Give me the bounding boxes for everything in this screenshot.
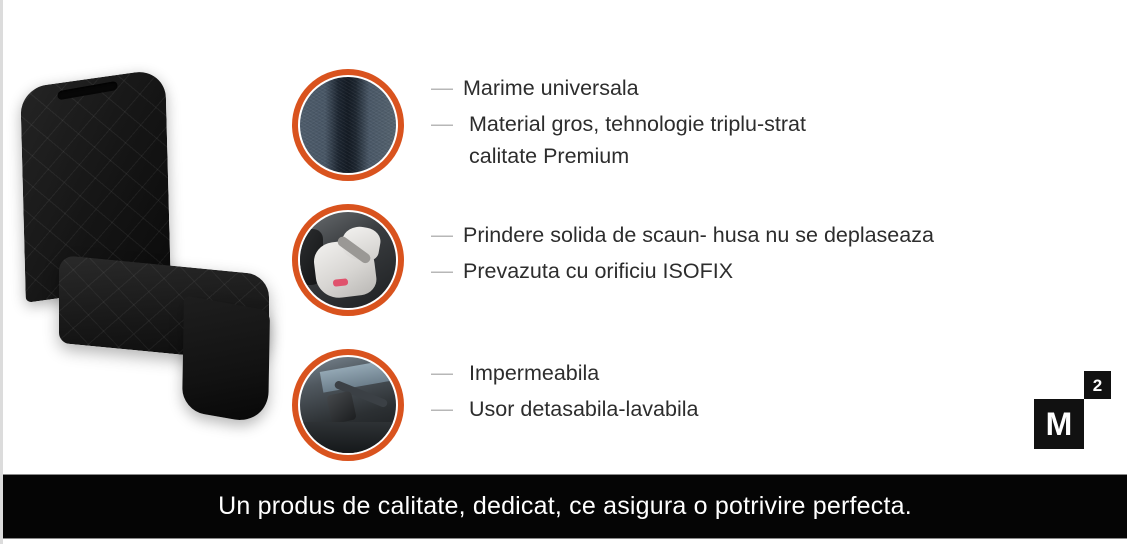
feature-line: — Impermeabila [431,357,698,389]
logo-letter-m: M [1034,399,1084,449]
em-dash-icon: — [431,357,463,389]
feature-text: Impermeabila [463,357,599,389]
feature-line: — Material gros, tehnologie triplu-strat… [431,108,806,172]
feature-text: Usor detasabila-lavabila [463,393,698,425]
seat-belt-buckle-thumbnail [292,349,404,461]
feature-line: — Prevazuta cu orificiu ISOFIX [431,255,934,287]
fabric-closeup-thumbnail [292,69,404,181]
em-dash-icon: — [431,255,463,287]
feature-text: Prevazuta cu orificiu ISOFIX [463,255,733,287]
seat-front-flap [182,296,270,426]
fabric-closeup-image [300,77,396,173]
bottom-banner: Un produs de calitate, dedicat, ce asigu… [3,474,1127,539]
em-dash-icon: — [431,219,463,251]
product-photo [11,60,301,450]
seat-belt-buckle-image [300,357,396,453]
feature-line: — Marime universala [431,72,806,104]
product-feature-slide: — Marime universala — Material gros, teh… [0,0,1127,544]
brand-logo: M 2 [1034,371,1116,449]
child-car-seat-image [300,212,396,308]
feature-line: — Usor detasabila-lavabila [431,393,698,425]
em-dash-icon: — [431,108,463,140]
seat-belt-buckle [326,391,356,424]
feature-text: Material gros, tehnologie triplu-strat c… [463,108,806,172]
feature-group-1: — Marime universala — Material gros, teh… [431,72,806,176]
em-dash-icon: — [431,393,463,425]
child-car-seat-thumbnail [292,204,404,316]
seat-handle-slot [57,81,117,100]
feature-text: Prindere solida de scaun- husa nu se dep… [463,219,934,251]
feature-group-3: — Impermeabila — Usor detasabila-lavabil… [431,357,698,429]
feature-group-2: — Prindere solida de scaun- husa nu se d… [431,219,934,291]
banner-tagline: Un produs de calitate, dedicat, ce asigu… [218,492,912,521]
feature-line: — Prindere solida de scaun- husa nu se d… [431,219,934,251]
car-window-area [320,358,396,392]
em-dash-icon: — [431,72,463,104]
feature-text: Marime universala [463,72,639,104]
car-floor-area [300,422,396,453]
logo-superscript-two: 2 [1084,371,1111,399]
